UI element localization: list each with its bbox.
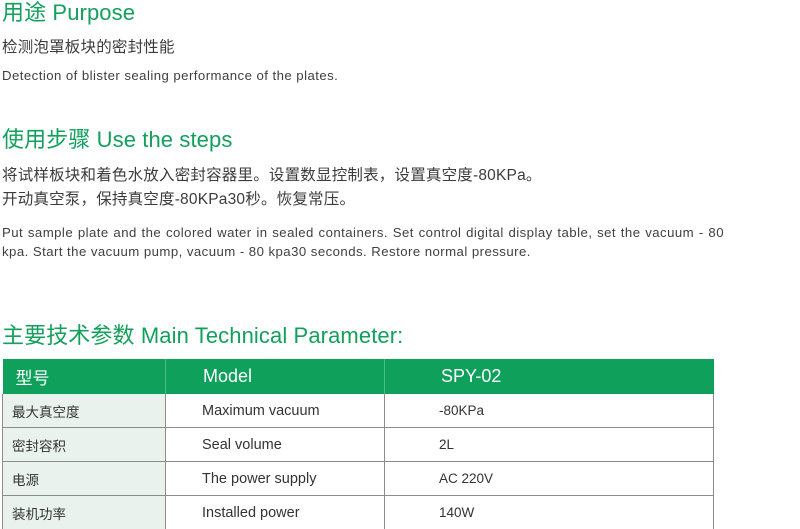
main-technical-parameter-heading-en: Main Technical Parameter: xyxy=(141,323,404,348)
purpose-heading: 用途 Purpose xyxy=(2,1,782,24)
spec-row-value: -80KPa xyxy=(385,394,714,428)
purpose-body-en: Detection of blister sealing performance… xyxy=(2,67,782,86)
spec-table-header-label-cn: 型号 xyxy=(3,359,166,394)
use-steps-body-en: Put sample plate and the colored water i… xyxy=(2,224,724,261)
purpose-body-cn: 检测泡罩板块的密封性能 xyxy=(2,36,782,60)
spec-table-header-model-value: SPY-02 xyxy=(385,359,714,394)
main-technical-parameter-heading: 主要技术参数 Main Technical Parameter: xyxy=(2,324,792,347)
spec-table-header-label-en: Model xyxy=(166,359,385,394)
spec-row-label-en: The power supply xyxy=(166,462,385,496)
spec-sheet-page: 用途 Purpose 检测泡罩板块的密封性能 Detection of blis… xyxy=(0,0,800,522)
table-row: 最大真空度 Maximum vacuum -80KPa xyxy=(3,394,714,428)
spec-row-label-cn: 装机功率 xyxy=(3,496,166,529)
spec-row-label-cn: 密封容积 xyxy=(3,428,166,462)
spec-row-value: AC 220V xyxy=(385,462,714,496)
spec-row-label-en: Installed power xyxy=(166,496,385,529)
spec-row-label-cn: 最大真空度 xyxy=(3,394,166,428)
spec-row-value: 2L xyxy=(385,428,714,462)
spec-table: 型号 Model SPY-02 最大真空度 Maximum vacuum -80… xyxy=(2,359,714,529)
table-row: 装机功率 Installed power 140W xyxy=(3,496,714,529)
use-steps-body-cn-line-1: 将试样板块和着色水放入密封容器里。设置数显控制表，设置真空度-80KPa。 xyxy=(2,164,792,188)
main-technical-parameter-section: 主要技术参数 Main Technical Parameter: 型号 Mode… xyxy=(2,324,792,529)
table-row: 密封容积 Seal volume 2L xyxy=(3,428,714,462)
purpose-heading-en: Purpose xyxy=(52,0,135,25)
spec-table-header-row: 型号 Model SPY-02 xyxy=(3,359,714,394)
use-steps-heading-en: Use the steps xyxy=(97,127,233,152)
spec-row-label-en: Maximum vacuum xyxy=(166,394,385,428)
main-technical-parameter-heading-cn: 主要技术参数 xyxy=(2,323,135,348)
table-row: 电源 The power supply AC 220V xyxy=(3,462,714,496)
purpose-heading-cn: 用途 xyxy=(2,0,46,25)
spec-table-body: 最大真空度 Maximum vacuum -80KPa 密封容积 Seal vo… xyxy=(3,394,714,529)
use-steps-section: 使用步骤 Use the steps 将试样板块和着色水放入密封容器里。设置数显… xyxy=(2,128,792,262)
use-steps-body-cn: 将试样板块和着色水放入密封容器里。设置数显控制表，设置真空度-80KPa。 开动… xyxy=(2,164,792,211)
use-steps-body-cn-line-2: 开动真空泵，保持真空度-80KPa30秒。恢复常压。 xyxy=(2,188,792,212)
use-steps-heading-cn: 使用步骤 xyxy=(2,127,90,152)
spec-table-head: 型号 Model SPY-02 xyxy=(3,359,714,394)
use-steps-heading: 使用步骤 Use the steps xyxy=(2,128,792,151)
purpose-section: 用途 Purpose 检测泡罩板块的密封性能 Detection of blis… xyxy=(2,1,782,85)
spec-row-label-en: Seal volume xyxy=(166,428,385,462)
spec-row-label-cn: 电源 xyxy=(3,462,166,496)
spec-row-value: 140W xyxy=(385,496,714,529)
